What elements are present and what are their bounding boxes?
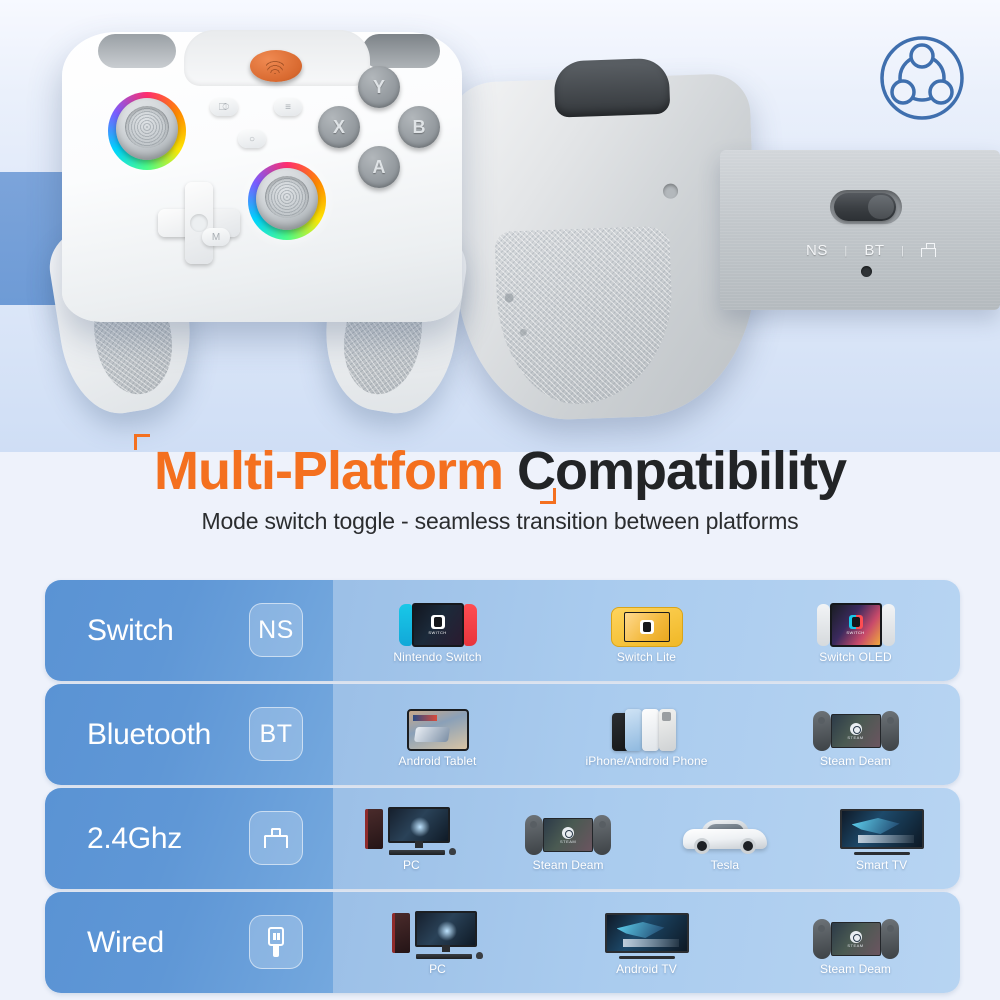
- device-label: Steam Deam: [820, 754, 891, 768]
- face-button-cluster: Y X B A: [314, 66, 444, 196]
- bracket-top-left-icon: [134, 434, 150, 450]
- table-row: Switch NS SWITCH Nintendo Switch Switch …: [45, 580, 960, 681]
- mode-switch-closeup: NS | BT |: [720, 150, 1000, 310]
- rear-port: [663, 183, 679, 199]
- compatibility-table: Switch NS SWITCH Nintendo Switch Switch …: [45, 580, 960, 1000]
- list-item: Switch Lite: [542, 597, 751, 664]
- table-row: Bluetooth BT Android Tablet iPhone/Andro…: [45, 684, 960, 785]
- row-title: Wired: [87, 926, 164, 960]
- rear-trigger: [553, 58, 670, 118]
- pc-desktop-icon: [365, 805, 457, 855]
- mode-switch-track: [830, 190, 902, 224]
- macro-button[interactable]: M: [202, 228, 230, 246]
- row-devices: Android Tablet iPhone/Android Phone STEA…: [333, 684, 960, 785]
- share-nodes-icon: [872, 28, 972, 128]
- row-devices: PC STEAM Steam Deam Tesla Smart TV: [333, 788, 960, 889]
- row-devices: SWITCH Nintendo Switch Switch Lite SWITC…: [333, 580, 960, 681]
- reset-pinhole-icon: [861, 266, 872, 277]
- device-label: Tesla: [711, 858, 740, 872]
- button-x[interactable]: X: [318, 106, 360, 148]
- device-label: iPhone/Android Phone: [585, 754, 707, 768]
- phones-icon: [612, 701, 682, 751]
- list-item: STEAM Steam Deam: [751, 909, 960, 976]
- device-label: Steam Deam: [820, 962, 891, 976]
- device-label: Switch Lite: [617, 650, 676, 664]
- status-badge: BT: [249, 707, 303, 761]
- list-item: Tesla: [647, 805, 804, 872]
- home-circle-button[interactable]: ○: [238, 130, 266, 148]
- dpad-icon[interactable]: [158, 182, 240, 264]
- row-title: 2.4Ghz: [87, 822, 182, 856]
- switch-oled-icon: SWITCH: [817, 597, 895, 647]
- mode-switch-labels: NS | BT |: [806, 242, 936, 259]
- heading-section: Multi-Platform Compatibility Mode switch…: [0, 436, 1000, 576]
- button-a[interactable]: A: [358, 146, 400, 188]
- usb-dongle-icon: [249, 811, 303, 865]
- usb-connector-icon: [249, 915, 303, 969]
- left-analog-stick[interactable]: [108, 92, 186, 170]
- controller-rear-view: [449, 73, 761, 423]
- list-item: SWITCH Nintendo Switch: [333, 597, 542, 664]
- usb-dongle-icon: [921, 244, 936, 257]
- power-home-icon[interactable]: [250, 50, 302, 82]
- device-label: Android Tablet: [399, 754, 477, 768]
- list-item: Android Tablet: [333, 701, 542, 768]
- capture-button[interactable]: ⎄: [210, 98, 238, 116]
- mode-switch-knob[interactable]: [834, 193, 896, 221]
- steam-deck-icon: STEAM: [813, 701, 899, 751]
- table-row: 2.4Ghz PC STEAM Steam Deam T: [45, 788, 960, 889]
- left-bumper: [98, 34, 176, 68]
- hero-product-photo: NS | BT | Y X B A ⎄: [0, 0, 1000, 452]
- bracket-bottom-right-icon: [540, 488, 556, 504]
- pc-desktop-icon: [392, 909, 484, 959]
- mode-label-ns: NS: [806, 242, 828, 259]
- steam-deck-icon: STEAM: [813, 909, 899, 959]
- page-title: Multi-Platform Compatibility: [128, 436, 872, 502]
- device-label: Nintendo Switch: [393, 650, 481, 664]
- title-rest: Compatibility: [517, 441, 846, 501]
- page-subtitle: Mode switch toggle - seamless transition…: [0, 508, 1000, 535]
- button-y[interactable]: Y: [358, 66, 400, 108]
- steam-deck-icon: STEAM: [525, 805, 611, 855]
- mode-label-separator: |: [844, 245, 847, 257]
- tesla-car-icon: [683, 805, 767, 855]
- list-item: Smart TV: [803, 805, 960, 872]
- device-label: Smart TV: [856, 858, 907, 872]
- controller-body: Y X B A ⎄ ≡ ○ M: [62, 32, 462, 322]
- list-item: iPhone/Android Phone: [542, 701, 751, 768]
- android-tv-icon: [605, 909, 689, 959]
- rear-grip-texture: [494, 226, 675, 407]
- device-label: Switch OLED: [819, 650, 891, 664]
- mode-label-separator: |: [901, 245, 904, 257]
- device-label: PC: [403, 858, 420, 872]
- status-badge: NS: [249, 603, 303, 657]
- switch-lite-icon: [611, 597, 683, 647]
- button-b[interactable]: B: [398, 106, 440, 148]
- list-item: PC: [333, 805, 490, 872]
- smart-tv-icon: [840, 805, 924, 855]
- device-label: PC: [429, 962, 446, 976]
- list-item: PC: [333, 909, 542, 976]
- right-bumper: [362, 34, 440, 68]
- mode-label-bt: BT: [864, 242, 884, 259]
- switch-console-icon: SWITCH: [399, 597, 477, 647]
- row-devices: PC Android TV STEAM Steam Deam: [333, 892, 960, 993]
- row-title: Switch: [87, 614, 174, 648]
- list-item: STEAM Steam Deam: [751, 701, 960, 768]
- controller-front-view: Y X B A ⎄ ≡ ○ M: [52, 22, 472, 422]
- title-highlight: Multi-Platform: [154, 441, 503, 501]
- list-item: SWITCH Switch OLED: [751, 597, 960, 664]
- device-label: Steam Deam: [533, 858, 604, 872]
- list-item: STEAM Steam Deam: [490, 805, 647, 872]
- row-title: Bluetooth: [87, 718, 211, 752]
- menu-button[interactable]: ≡: [274, 98, 302, 116]
- android-tablet-icon: [407, 701, 469, 751]
- device-label: Android TV: [616, 962, 677, 976]
- list-item: Android TV: [542, 909, 751, 976]
- table-row: Wired PC Android TV STEAM St: [45, 892, 960, 993]
